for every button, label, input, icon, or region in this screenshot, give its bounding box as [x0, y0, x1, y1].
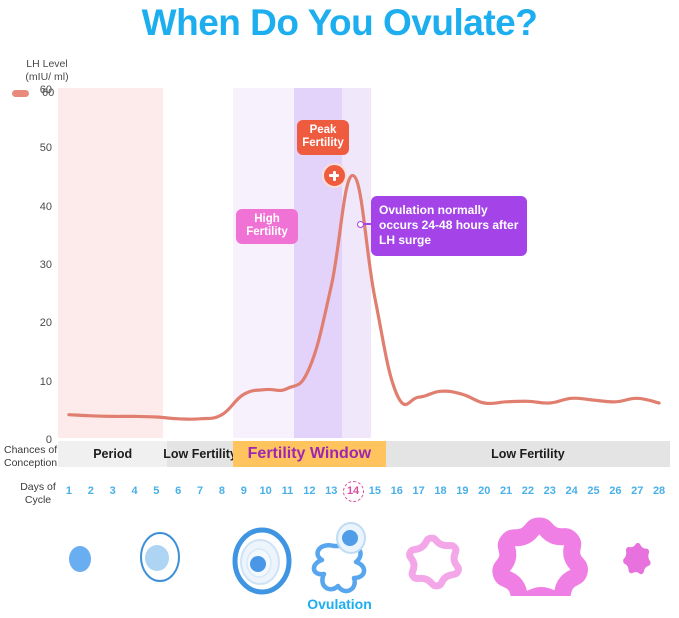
day-13[interactable]: 13	[320, 481, 342, 501]
segment-period: Period	[58, 441, 167, 467]
high-chip-line2: Fertility	[238, 226, 296, 239]
chances-of-conception-bar: PeriodLow FertilityFertility WindowLow F…	[58, 441, 670, 467]
high-fertility-chip: High Fertility	[236, 209, 298, 244]
peak-fertility-chip: Peak Fertility	[297, 120, 349, 155]
day-7[interactable]: 7	[189, 481, 211, 501]
day-25[interactable]: 25	[583, 481, 605, 501]
segment-fertility-window: Fertility Window	[233, 441, 386, 467]
lh-level-chart	[58, 88, 670, 438]
follicle-illustrations	[0, 516, 679, 596]
follicle-2-inner	[145, 545, 169, 571]
lh-curve	[58, 88, 670, 438]
note-connector-line-icon	[364, 223, 371, 225]
days-of-cycle-row: 1234567891011121314151617181920212223242…	[58, 481, 670, 509]
day-9[interactable]: 9	[233, 481, 255, 501]
y-axis: 0102030405060	[0, 88, 52, 440]
y-tick-40: 40	[0, 201, 52, 213]
day-11[interactable]: 11	[277, 481, 299, 501]
plus-marker-icon	[322, 163, 347, 188]
peak-chip-line2: Fertility	[299, 137, 347, 150]
corpus-albicans	[623, 543, 650, 574]
day-18[interactable]: 18	[430, 481, 452, 501]
highlighted-day-ring	[343, 481, 364, 502]
high-chip-line1: High	[238, 213, 296, 226]
day-22[interactable]: 22	[517, 481, 539, 501]
note-connector-dot-icon	[357, 221, 364, 228]
segment-low-fertility-2: Low Fertility	[386, 441, 670, 467]
segment-label-period: Period	[93, 447, 132, 461]
day-26[interactable]: 26	[604, 481, 626, 501]
day-23[interactable]: 23	[539, 481, 561, 501]
peak-chip-line1: Peak	[299, 124, 347, 137]
released-egg-nucleus	[342, 530, 358, 546]
ovulation-note-chip: Ovulation normally occurs 24-48 hours af…	[371, 196, 527, 256]
day-15[interactable]: 15	[364, 481, 386, 501]
day-8[interactable]: 8	[211, 481, 233, 501]
day-5[interactable]: 5	[145, 481, 167, 501]
day-24[interactable]: 24	[561, 481, 583, 501]
y-tick-60: 60	[0, 84, 52, 96]
segment-label-low-fertility-1: Low Fertility	[163, 447, 237, 461]
corpus-luteum-stage-2	[501, 526, 580, 596]
day-3[interactable]: 3	[102, 481, 124, 501]
day-20[interactable]: 20	[473, 481, 495, 501]
segment-label-fertility-window: Fertility Window	[248, 445, 371, 463]
page-title: When Do You Ovulate?	[0, 2, 679, 44]
follicle-stage-1	[69, 546, 91, 572]
day-16[interactable]: 16	[386, 481, 408, 501]
corpus-luteum-stage-1	[410, 538, 459, 586]
day-19[interactable]: 19	[451, 481, 473, 501]
y-tick-50: 50	[0, 142, 52, 154]
lh-level-line	[69, 175, 659, 419]
day-1[interactable]: 1	[58, 481, 80, 501]
day-10[interactable]: 10	[255, 481, 277, 501]
ovulation-caption: Ovulation	[0, 596, 679, 612]
day-2[interactable]: 2	[80, 481, 102, 501]
day-27[interactable]: 27	[626, 481, 648, 501]
legend-label-line2: (mIU/ ml)	[8, 71, 86, 84]
segment-low-fertility-1: Low Fertility	[167, 441, 233, 467]
segment-label-low-fertility-2: Low Fertility	[491, 447, 565, 461]
day-4[interactable]: 4	[124, 481, 146, 501]
day-28[interactable]: 28	[648, 481, 670, 501]
day-17[interactable]: 17	[408, 481, 430, 501]
y-tick-20: 20	[0, 317, 52, 329]
y-tick-30: 30	[0, 259, 52, 271]
day-21[interactable]: 21	[495, 481, 517, 501]
day-12[interactable]: 12	[298, 481, 320, 501]
day-6[interactable]: 6	[167, 481, 189, 501]
legend-label-line1: LH Level	[8, 58, 86, 71]
follicle-3-nucleus	[250, 556, 266, 572]
y-tick-10: 10	[0, 376, 52, 388]
